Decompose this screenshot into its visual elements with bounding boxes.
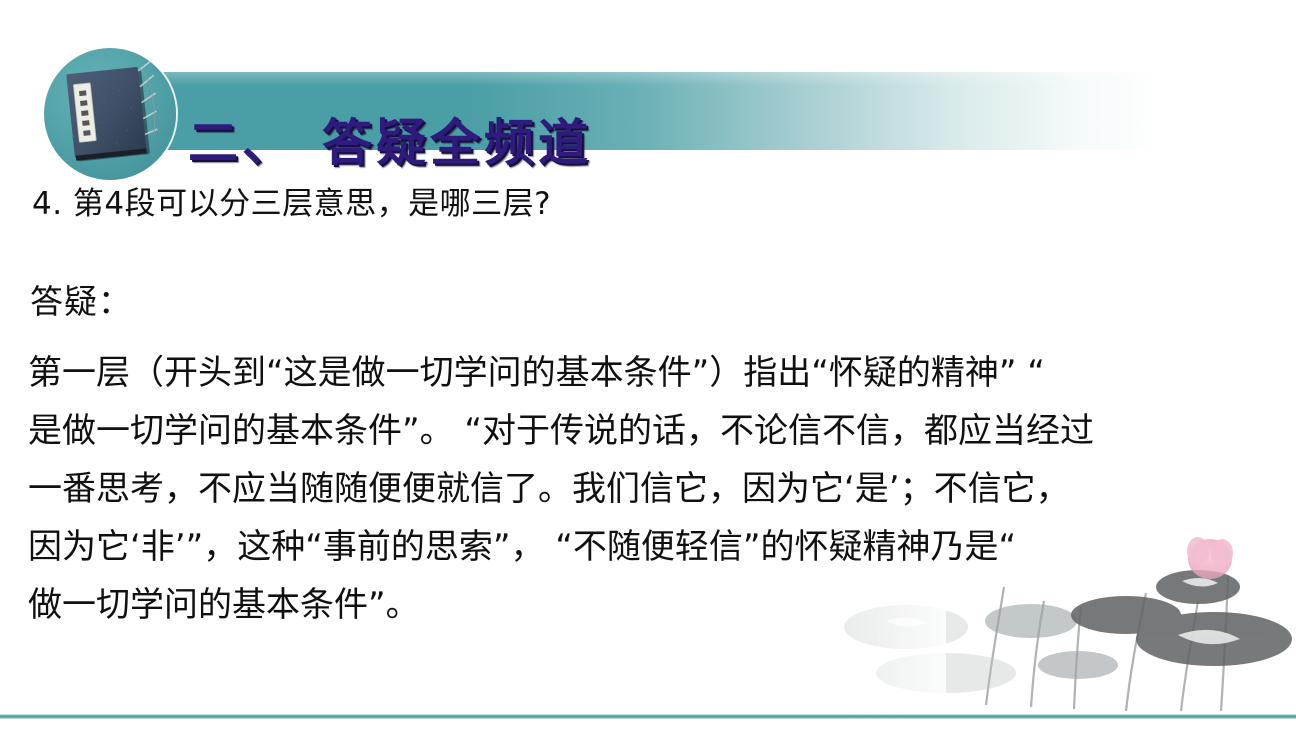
bottom-rule-divider — [0, 714, 1296, 719]
answer-line: 是做一切学问的基本条件”。 “对于传说的话，不论信不信，都应当经过 — [28, 402, 1280, 460]
page-title: 二、答疑全频道 — [188, 118, 592, 168]
answer-line: 一番思考，不应当随随便便就信了。我们信它，因为它‘是’；不信它， — [28, 460, 1280, 518]
answer-line: 做一切学问的基本条件”。 — [28, 576, 1280, 634]
section-number: 二、 — [188, 114, 296, 172]
section-title: 答疑全频道 — [322, 114, 592, 172]
answer-label: 答疑： — [30, 275, 132, 323]
header-banner: 二、答疑全频道 — [0, 40, 1296, 180]
answer-line: 第一层（开头到“这是做一切学问的基本条件”）指出“怀疑的精神” “ — [28, 344, 1280, 402]
answer-body: 第一层（开头到“这是做一切学问的基本条件”）指出“怀疑的精神” “ 是做一切学问… — [28, 344, 1280, 634]
thread-bound-book-icon — [44, 48, 176, 180]
question-text: 4. 第4段可以分三层意思，是哪三层? — [32, 178, 551, 223]
slide-canvas: 二、答疑全频道 4. 第4段可以分三层意思，是哪三层? 答疑： 第一层（开头到“… — [0, 0, 1296, 729]
answer-line: 因为它‘非’”，这种“事前的思索”， “不随便轻信”的怀疑精神乃是“ — [28, 518, 1280, 576]
